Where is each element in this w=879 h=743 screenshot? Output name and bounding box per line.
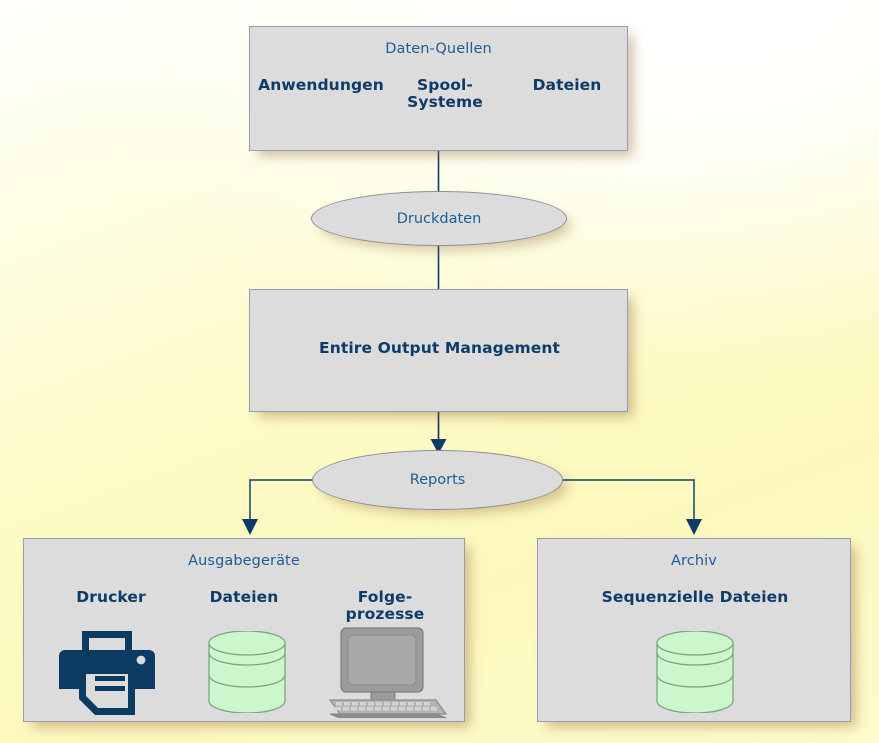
diagram-canvas: Daten-Quellen Anwendungen Spool- Systeme… — [0, 0, 879, 743]
printer-icon-wrap — [57, 629, 157, 715]
cylinder-icon-wrap-archiv — [655, 631, 735, 713]
node-reports[interactable]: Reports — [312, 450, 563, 510]
node-label-anwendungen: Anwendungen — [256, 77, 386, 94]
node-druckdaten-label: Druckdaten — [397, 211, 482, 227]
computer-icon-wrap — [319, 626, 447, 718]
wire-reports-to-output-devices — [250, 480, 318, 522]
printer-icon — [57, 629, 157, 715]
node-druckdaten[interactable]: Druckdaten — [311, 191, 567, 246]
wire-reports-to-archive — [558, 480, 694, 522]
node-entire-output-management-label: Entire Output Management — [250, 340, 629, 357]
node-ausgabegeraete-title: Ausgabegeräte — [24, 553, 464, 569]
arrowhead-archive — [686, 519, 702, 535]
node-archiv-title: Archiv — [538, 553, 850, 569]
node-label-dateien: Dateien — [508, 77, 626, 94]
node-archiv[interactable]: Archiv Sequenzielle Dateien — [537, 538, 851, 722]
node-entire-output-management[interactable]: Entire Output Management — [249, 289, 628, 412]
cylinder-icon-wrap-dateien — [207, 631, 287, 713]
node-label-folgeprozesse: Folge- prozesse — [312, 589, 458, 622]
node-label-drucker: Drucker — [36, 589, 186, 606]
cylinder-icon — [207, 631, 287, 713]
computer-icon — [319, 626, 447, 718]
node-ausgabegeraete[interactable]: Ausgabegeräte Drucker Dateien Folge- pro… — [23, 538, 465, 722]
node-label-sequenzielle-dateien: Sequenzielle Dateien — [538, 589, 852, 606]
node-reports-label: Reports — [410, 472, 466, 488]
node-daten-quellen[interactable]: Daten-Quellen Anwendungen Spool- Systeme… — [249, 26, 628, 151]
node-daten-quellen-title: Daten-Quellen — [250, 41, 627, 57]
arrowhead-output-devices — [242, 519, 258, 535]
node-label-spool-systeme: Spool- Systeme — [390, 77, 500, 110]
node-label-dateien-output: Dateien — [169, 589, 319, 606]
cylinder-icon — [655, 631, 735, 713]
